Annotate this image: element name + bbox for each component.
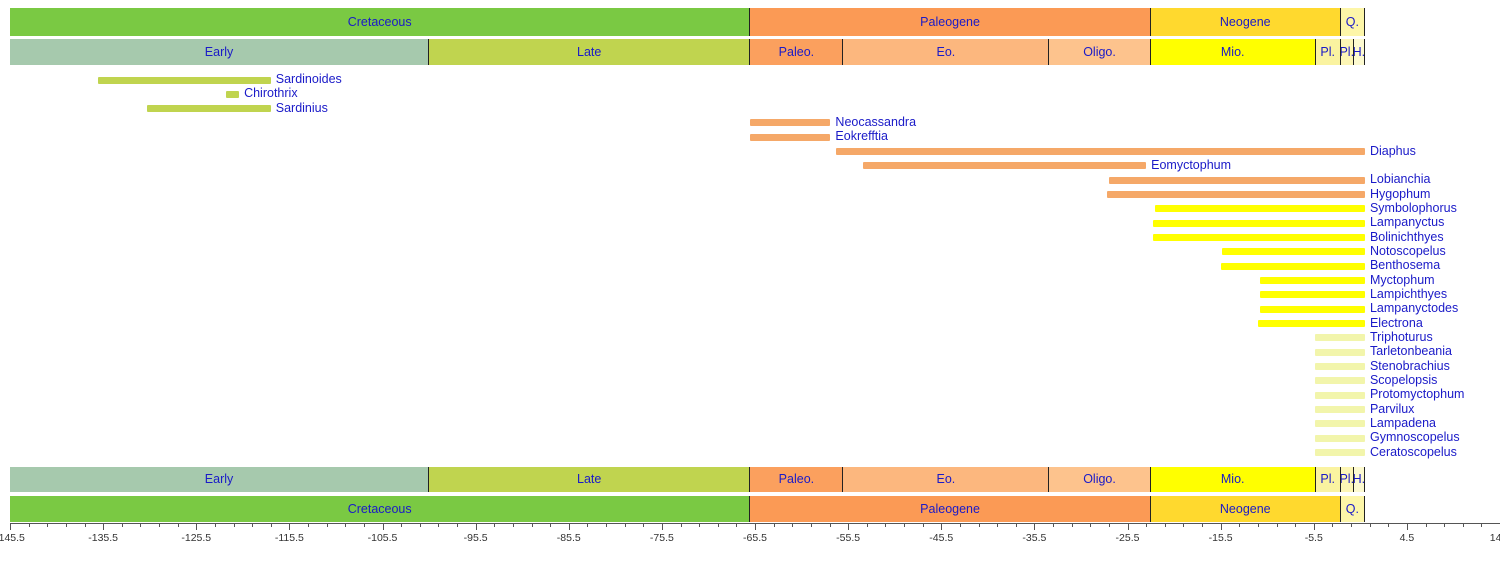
- axis-tick-label: 4.5: [1377, 532, 1437, 544]
- period-bottom-cell[interactable]: Paleogene: [750, 496, 1150, 522]
- taxon-range-bar[interactable]: [1315, 406, 1365, 413]
- axis-tick-minor: [66, 523, 67, 527]
- axis-tick-minor: [1109, 523, 1110, 527]
- taxon-range-bar[interactable]: [1153, 234, 1365, 241]
- axis-tick-minor: [494, 523, 495, 527]
- period-bottom-label: Neogene: [1220, 503, 1271, 516]
- taxon-label: Diaphus: [1370, 145, 1416, 158]
- period-bottom-band: CretaceousPaleogeneNeogeneQ.: [0, 496, 1500, 522]
- taxon-range-bar[interactable]: [1153, 220, 1365, 227]
- axis-tick-label: -135.5: [73, 532, 133, 544]
- taxon-label: Chirothrix: [244, 87, 298, 100]
- axis-tick-minor: [1146, 523, 1147, 527]
- taxon-range-bar[interactable]: [1222, 248, 1365, 255]
- epoch-top-cell[interactable]: Pl.: [1341, 39, 1354, 65]
- epoch-bottom-cell[interactable]: Mio.: [1151, 467, 1316, 492]
- axis-tick-minor: [1053, 523, 1054, 527]
- taxon-label: Ceratoscopelus: [1370, 446, 1457, 459]
- axis-tick-minor: [1165, 523, 1166, 527]
- taxon-label: Tarletonbeania: [1370, 345, 1452, 358]
- axis-tick-label: -95.5: [446, 532, 506, 544]
- epoch-bottom-label: Oligo.: [1083, 473, 1116, 486]
- axis-tick-major: [196, 523, 197, 530]
- taxon-range-bar[interactable]: [1258, 320, 1365, 327]
- period-bottom-cell[interactable]: Cretaceous: [10, 496, 750, 522]
- axis-tick-major: [569, 523, 570, 530]
- axis-tick-minor: [401, 523, 402, 527]
- taxon-label: Scopelopsis: [1370, 374, 1437, 387]
- epoch-top-cell[interactable]: Mio.: [1151, 39, 1316, 65]
- period-top-label: Q.: [1346, 16, 1359, 29]
- epoch-top-label: Oligo.: [1083, 46, 1116, 59]
- epoch-top-label: Eo.: [936, 46, 955, 59]
- axis-tick-minor: [327, 523, 328, 527]
- axis-tick-major: [662, 523, 663, 530]
- axis-tick-minor: [308, 523, 309, 527]
- axis-tick-major: [1034, 523, 1035, 530]
- epoch-top-label: Pl.: [1320, 46, 1335, 59]
- period-bottom-label: Cretaceous: [348, 503, 412, 516]
- epoch-bottom-cell[interactable]: Early: [10, 467, 429, 492]
- axis-tick-minor: [513, 523, 514, 527]
- axis-tick-minor: [1090, 523, 1091, 527]
- axis-tick-minor: [867, 523, 868, 527]
- axis-tick-major: [10, 523, 11, 530]
- axis-tick-minor: [811, 523, 812, 527]
- axis-tick-minor: [29, 523, 30, 527]
- axis-tick-minor: [1202, 523, 1203, 527]
- taxon-range-bar[interactable]: [1315, 449, 1365, 456]
- axis-tick-minor: [997, 523, 998, 527]
- period-top-band: CretaceousPaleogeneNeogeneQ.: [0, 8, 1500, 36]
- taxon-label: Sardinius: [276, 102, 328, 115]
- taxon-label: Bolinichthyes: [1370, 231, 1444, 244]
- epoch-bottom-cell[interactable]: Pl.: [1316, 467, 1341, 492]
- axis-tick-minor: [587, 523, 588, 527]
- axis-tick-minor: [1444, 523, 1445, 527]
- axis-tick-minor: [625, 523, 626, 527]
- axis-tick-major: [383, 523, 384, 530]
- axis-tick-minor: [718, 523, 719, 527]
- axis-tick-label: -45.5: [911, 532, 971, 544]
- taxon-range-bar[interactable]: [750, 134, 830, 141]
- epoch-top-band: EarlyLatePaleo.Eo.Oligo.Mio.Pl.Pl.H.: [0, 39, 1500, 65]
- axis-tick-label: -115.5: [259, 532, 319, 544]
- taxon-label: Benthosema: [1370, 259, 1440, 272]
- axis-tick-minor: [457, 523, 458, 527]
- epoch-bottom-cell[interactable]: Pl.: [1341, 467, 1354, 492]
- axis-tick-minor: [904, 523, 905, 527]
- axis-tick-minor: [1463, 523, 1464, 527]
- axis-tick-major: [848, 523, 849, 530]
- taxon-range-bar[interactable]: [1107, 191, 1365, 198]
- axis-tick-minor: [532, 523, 533, 527]
- epoch-top-cell[interactable]: Early: [10, 39, 429, 65]
- taxon-label: Electrona: [1370, 317, 1423, 330]
- epoch-bottom-label: Late: [577, 473, 601, 486]
- taxon-range-bar[interactable]: [1315, 392, 1365, 399]
- taxon-label: Myctophum: [1370, 274, 1435, 287]
- axis-tick-minor: [681, 523, 682, 527]
- epoch-bottom-band: EarlyLatePaleo.Eo.Oligo.Mio.Pl.Pl.H.: [0, 467, 1500, 492]
- epoch-bottom-label: Early: [205, 473, 233, 486]
- taxon-range-bar[interactable]: [836, 148, 1365, 155]
- taxon-range-bar[interactable]: [1315, 334, 1365, 341]
- taxon-range-bar[interactable]: [1260, 291, 1365, 298]
- period-bottom-label: Paleogene: [920, 503, 980, 516]
- taxon-label: Lampadena: [1370, 417, 1436, 430]
- taxon-range-bar[interactable]: [1315, 420, 1365, 427]
- axis-tick-minor: [979, 523, 980, 527]
- taxon-label: Hygophum: [1370, 188, 1430, 201]
- axis-tick-minor: [1481, 523, 1482, 527]
- taxon-label: Sardinoides: [276, 73, 342, 86]
- axis-tick-major: [941, 523, 942, 530]
- axis-tick-minor: [1277, 523, 1278, 527]
- axis-tick-minor: [1332, 523, 1333, 527]
- taxon-range-bar[interactable]: [1315, 349, 1365, 356]
- taxon-label: Eokrefftia: [835, 130, 888, 143]
- axis-tick-label: -35.5: [1004, 532, 1064, 544]
- taxon-label: Protomyctophum: [1370, 388, 1464, 401]
- taxon-label: Lobianchia: [1370, 173, 1430, 186]
- axis-tick-label: -125.5: [166, 532, 226, 544]
- taxon-label: Neocassandra: [835, 116, 916, 129]
- axis-tick-label: -65.5: [725, 532, 785, 544]
- taxon-range-bar[interactable]: [1260, 277, 1365, 284]
- axis-tick-major: [755, 523, 756, 530]
- axis-tick-label: -145.5: [0, 532, 40, 544]
- axis-tick-minor: [85, 523, 86, 527]
- epoch-bottom-cell[interactable]: Eo.: [843, 467, 1049, 492]
- axis-tick-major: [1128, 523, 1129, 530]
- axis-tick-label: -75.5: [632, 532, 692, 544]
- epoch-top-label: Paleo.: [779, 46, 814, 59]
- period-top-label: Neogene: [1220, 16, 1271, 29]
- epoch-top-label: Late: [577, 46, 601, 59]
- epoch-bottom-cell[interactable]: Oligo.: [1049, 467, 1151, 492]
- epoch-bottom-label: Pl.: [1341, 473, 1354, 486]
- taxon-label: Lampichthyes: [1370, 288, 1447, 301]
- taxon-range-bar[interactable]: [1315, 377, 1365, 384]
- axis-tick-minor: [1388, 523, 1389, 527]
- epoch-top-cell[interactable]: Pl.: [1316, 39, 1341, 65]
- epoch-bottom-cell[interactable]: Late: [429, 467, 750, 492]
- axis-tick-minor: [792, 523, 793, 527]
- taxon-label: Eomyctophum: [1151, 159, 1231, 172]
- epoch-top-label: Early: [205, 46, 233, 59]
- axis-tick-minor: [1239, 523, 1240, 527]
- taxon-label: Lampanyctodes: [1370, 302, 1458, 315]
- axis-tick-minor: [420, 523, 421, 527]
- taxon-range-bar[interactable]: [1221, 263, 1365, 270]
- taxon-label: Gymnoscopelus: [1370, 431, 1460, 444]
- axis-tick-minor: [550, 523, 551, 527]
- taxon-label: Parvilux: [1370, 403, 1414, 416]
- axis-tick-label: -85.5: [539, 532, 599, 544]
- period-bottom-label: Q.: [1346, 503, 1359, 516]
- axis-tick-minor: [1016, 523, 1017, 527]
- axis-tick-label: 14.5: [1470, 532, 1500, 544]
- axis-tick-minor: [1183, 523, 1184, 527]
- axis-tick-minor: [178, 523, 179, 527]
- epoch-top-cell[interactable]: Eo.: [843, 39, 1049, 65]
- taxon-range-bar[interactable]: [750, 119, 830, 126]
- axis-tick-label: -105.5: [353, 532, 413, 544]
- axis-tick-minor: [215, 523, 216, 527]
- taxon-label: Lampanyctus: [1370, 216, 1444, 229]
- period-top-cell[interactable]: Neogene: [1151, 8, 1341, 36]
- axis-tick-minor: [1351, 523, 1352, 527]
- taxon-label: Stenobrachius: [1370, 360, 1450, 373]
- taxon-range-bar[interactable]: [1260, 306, 1365, 313]
- axis-tick-major: [103, 523, 104, 530]
- axis-tick-minor: [606, 523, 607, 527]
- axis-tick-minor: [47, 523, 48, 527]
- axis-tick-minor: [1295, 523, 1296, 527]
- epoch-bottom-label: Paleo.: [779, 473, 814, 486]
- epoch-bottom-cell[interactable]: Paleo.: [750, 467, 843, 492]
- axis-tick-label: -15.5: [1191, 532, 1251, 544]
- axis-tick-minor: [699, 523, 700, 527]
- taxon-range-bar[interactable]: [98, 77, 270, 84]
- period-bottom-cell[interactable]: Q.: [1341, 496, 1365, 522]
- axis-tick-minor: [1258, 523, 1259, 527]
- axis-tick-minor: [1370, 523, 1371, 527]
- epoch-bottom-label: H.: [1354, 473, 1365, 486]
- taxon-range-bar[interactable]: [1155, 205, 1365, 212]
- axis-tick-minor: [122, 523, 123, 527]
- epoch-bottom-label: Mio.: [1221, 473, 1245, 486]
- axis-tick-minor: [1072, 523, 1073, 527]
- epoch-bottom-label: Eo.: [936, 473, 955, 486]
- axis-tick-minor: [140, 523, 141, 527]
- axis-tick-label: -55.5: [818, 532, 878, 544]
- axis-tick-minor: [923, 523, 924, 527]
- axis-tick-minor: [736, 523, 737, 527]
- taxon-range-bar[interactable]: [1315, 363, 1365, 370]
- axis-tick-minor: [438, 523, 439, 527]
- stratigraphic-range-chart: CretaceousPaleogeneNeogeneQ.EarlyLatePal…: [0, 0, 1500, 570]
- taxon-label: Symbolophorus: [1370, 202, 1457, 215]
- epoch-bottom-cell[interactable]: H.: [1354, 467, 1365, 492]
- epoch-top-label: H.: [1354, 46, 1365, 59]
- axis-tick-minor: [364, 523, 365, 527]
- period-top-cell[interactable]: Paleogene: [750, 8, 1150, 36]
- axis-tick-label: -25.5: [1098, 532, 1158, 544]
- period-top-label: Cretaceous: [348, 16, 412, 29]
- taxon-label: Notoscopelus: [1370, 245, 1446, 258]
- period-top-cell[interactable]: Q.: [1341, 8, 1365, 36]
- axis-tick-major: [1314, 523, 1315, 530]
- axis-tick-major: [1221, 523, 1222, 530]
- epoch-top-cell[interactable]: Oligo.: [1049, 39, 1151, 65]
- period-top-label: Paleogene: [920, 16, 980, 29]
- taxon-range-bar[interactable]: [1109, 177, 1365, 184]
- axis-tick-label: -5.5: [1284, 532, 1344, 544]
- taxon-range-bar[interactable]: [147, 105, 271, 112]
- axis-tick-major: [1407, 523, 1408, 530]
- axis-tick-minor: [234, 523, 235, 527]
- axis-tick-major: [289, 523, 290, 530]
- axis-tick-minor: [960, 523, 961, 527]
- axis-tick-minor: [1426, 523, 1427, 527]
- taxon-range-bar[interactable]: [226, 91, 239, 98]
- axis-tick-minor: [252, 523, 253, 527]
- axis-tick-minor: [345, 523, 346, 527]
- axis-tick-minor: [643, 523, 644, 527]
- epoch-top-cell[interactable]: H.: [1354, 39, 1365, 65]
- axis-tick-minor: [271, 523, 272, 527]
- axis-tick-minor: [885, 523, 886, 527]
- epoch-top-label: Mio.: [1221, 46, 1245, 59]
- taxon-range-bar[interactable]: [863, 162, 1146, 169]
- axis-tick-minor: [774, 523, 775, 527]
- axis-tick-major: [476, 523, 477, 530]
- epoch-top-cell[interactable]: Late: [429, 39, 750, 65]
- taxon-range-bar[interactable]: [1315, 435, 1365, 442]
- epoch-top-cell[interactable]: Paleo.: [750, 39, 843, 65]
- period-bottom-cell[interactable]: Neogene: [1151, 496, 1341, 522]
- axis-tick-minor: [159, 523, 160, 527]
- taxon-label: Triphoturus: [1370, 331, 1433, 344]
- epoch-top-label: Pl.: [1341, 46, 1354, 59]
- axis-tick-minor: [830, 523, 831, 527]
- epoch-bottom-label: Pl.: [1320, 473, 1335, 486]
- period-top-cell[interactable]: Cretaceous: [10, 8, 750, 36]
